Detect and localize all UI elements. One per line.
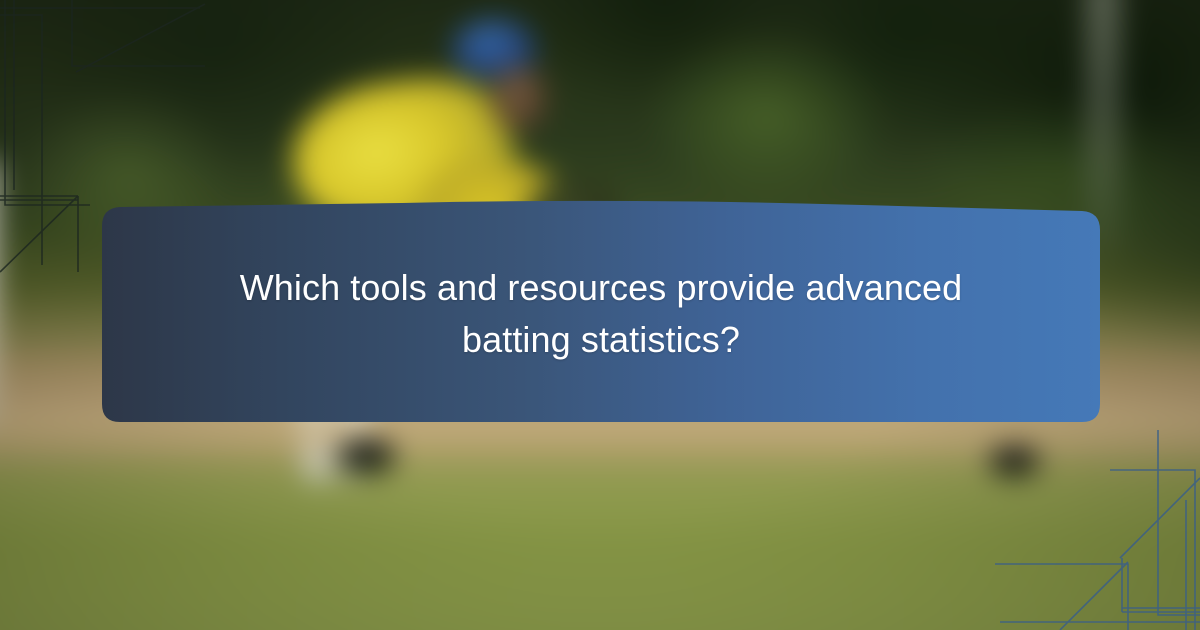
social-card-canvas: Which tools and resources provide advanc… bbox=[0, 0, 1200, 630]
question-card: Which tools and resources provide advanc… bbox=[102, 200, 1100, 428]
question-headline: Which tools and resources provide advanc… bbox=[201, 262, 1001, 366]
card-text-block: Which tools and resources provide advanc… bbox=[102, 200, 1100, 428]
